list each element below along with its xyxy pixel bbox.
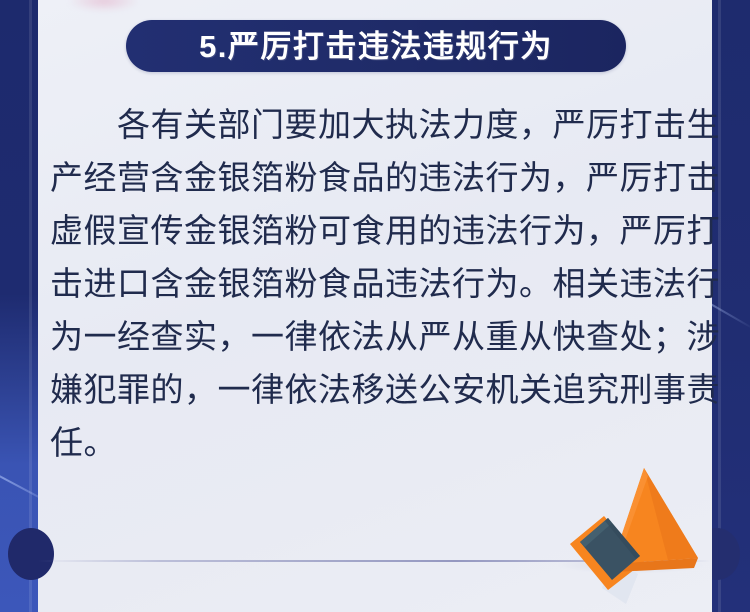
paragraph-line: 为一经查实，一律依法从严从重从快查处；涉 xyxy=(50,310,704,363)
page-title: 5.严厉打击违法违规行为 xyxy=(199,31,553,62)
left-bar-gradient xyxy=(0,0,38,612)
left-decorative-bar xyxy=(0,0,38,612)
paragraph-line: 虚假宣传金银箔粉可食用的违法行为，严厉打 xyxy=(50,204,704,257)
poster-canvas: 5.严厉打击违法违规行为 各有关部门要加大执法力度，严厉打击生 产经营含金银箔粉… xyxy=(0,0,750,612)
pink-smudge-decoration xyxy=(68,0,140,12)
paragraph-line: 各有关部门要加大执法力度，严厉打击生 xyxy=(50,98,704,151)
paragraph-line: 击进口含金银箔粉食品违法行为。相关违法行 xyxy=(50,257,704,310)
body-paragraph: 各有关部门要加大执法力度，严厉打击生 产经营含金银箔粉食品的违法行为，严厉打击 … xyxy=(50,98,704,469)
left-bar-seam xyxy=(29,0,32,612)
left-edge-dot-decoration xyxy=(8,528,54,580)
paragraph-line: 任。 xyxy=(50,416,704,469)
paragraph-line: 嫌犯罪的，一律依法移送公安机关追究刑事责 xyxy=(50,363,704,416)
megaphone-icon xyxy=(552,466,728,612)
paragraph-line: 产经营含金银箔粉食品的违法行为，严厉打击 xyxy=(50,151,704,204)
section-title-badge: 5.严厉打击违法违规行为 xyxy=(126,20,626,72)
